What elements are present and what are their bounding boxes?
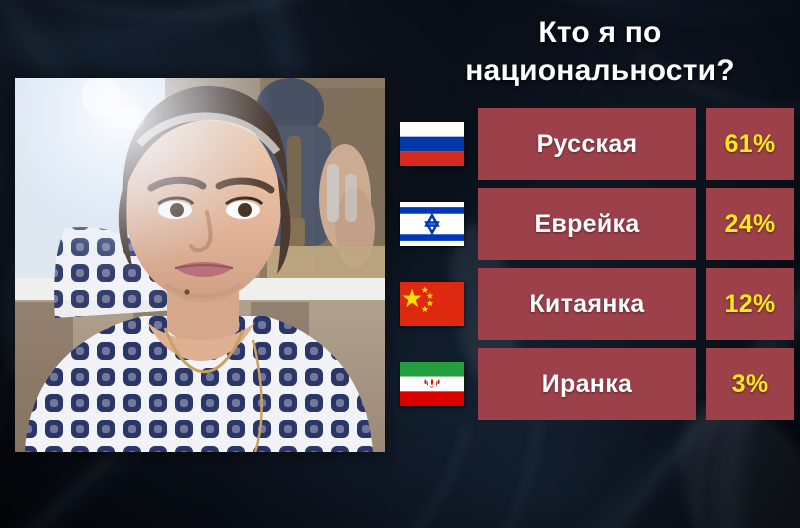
poll-label-bar[interactable]: Еврейка bbox=[478, 188, 696, 260]
poll-option-label: Иранка bbox=[542, 370, 632, 399]
poll-row[interactable]: Еврейка 24% bbox=[396, 188, 794, 260]
poll-image: Кто я по национальности? bbox=[0, 0, 800, 528]
poll-percent-value: 3% bbox=[732, 370, 769, 399]
poll-results-list: Русская 61% Еврейка bbox=[396, 108, 794, 428]
flag-iran-icon bbox=[400, 362, 464, 406]
flag-china-icon bbox=[400, 282, 464, 326]
poll-row[interactable]: Русская 61% bbox=[396, 108, 794, 180]
poll-label-bar[interactable]: Китаянка bbox=[478, 268, 696, 340]
page-title: Кто я по национальности? bbox=[400, 14, 800, 90]
poll-percent-value: 24% bbox=[725, 210, 776, 239]
flag-israel-icon bbox=[400, 202, 464, 246]
poll-row[interactable]: Иранка 3% bbox=[396, 348, 794, 420]
subject-photo bbox=[15, 78, 385, 452]
flag-russia-icon bbox=[400, 122, 464, 166]
poll-percent-box: 61% bbox=[706, 108, 794, 180]
poll-percent-value: 61% bbox=[725, 130, 776, 159]
poll-percent-box: 24% bbox=[706, 188, 794, 260]
poll-percent-box: 12% bbox=[706, 268, 794, 340]
poll-option-label: Китаянка bbox=[529, 290, 644, 319]
poll-label-bar[interactable]: Иранка bbox=[478, 348, 696, 420]
poll-percent-value: 12% bbox=[725, 290, 776, 319]
poll-percent-box: 3% bbox=[706, 348, 794, 420]
photo-illustration-icon bbox=[15, 78, 385, 452]
poll-option-label: Русская bbox=[537, 130, 638, 159]
poll-label-bar[interactable]: Русская bbox=[478, 108, 696, 180]
poll-option-label: Еврейка bbox=[534, 210, 639, 239]
poll-row[interactable]: Китаянка 12% bbox=[396, 268, 794, 340]
